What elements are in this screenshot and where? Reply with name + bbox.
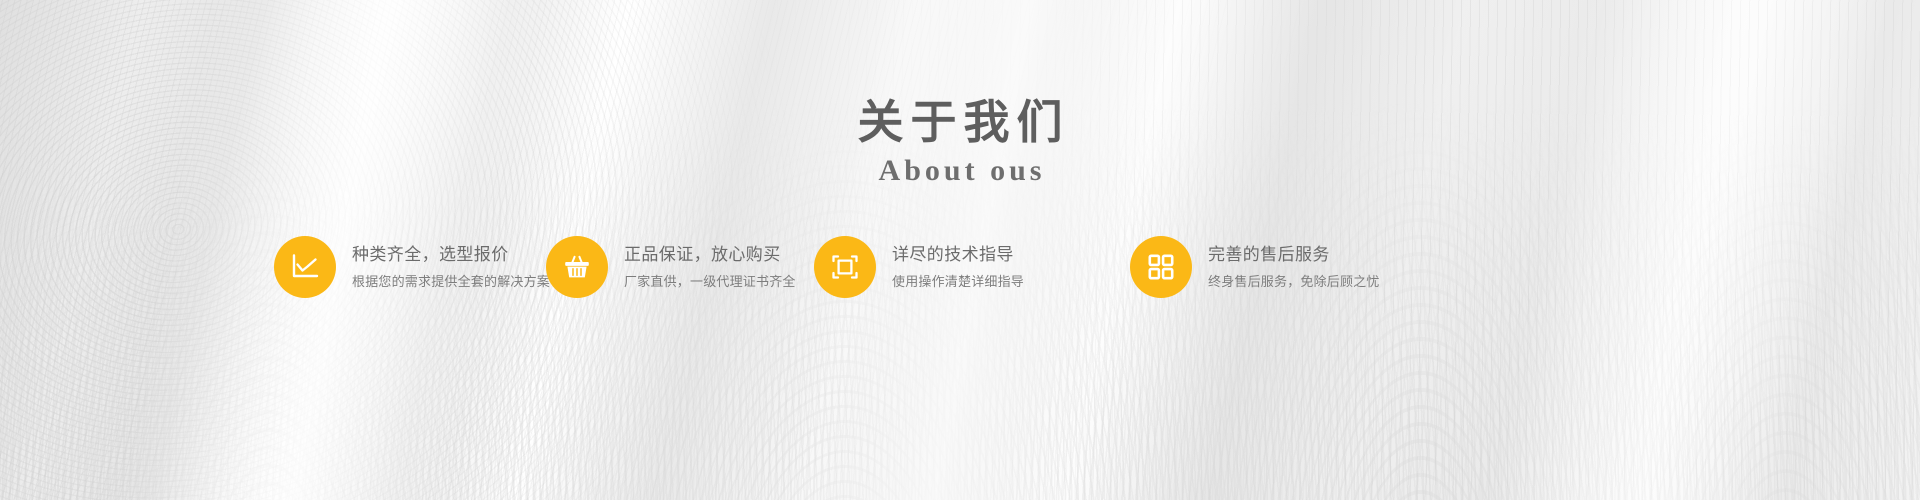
about-us-banner: 关于我们 About ous 种类齐全，选型报价 根据您的需求提供全套的解决方案: [0, 0, 1920, 500]
section-heading: 关于我们 About ous: [0, 98, 1920, 189]
feature-text: 种类齐全，选型报价 根据您的需求提供全套的解决方案: [352, 243, 550, 291]
feature-subtitle: 根据您的需求提供全套的解决方案: [352, 273, 550, 291]
feature-subtitle: 厂家直供，一级代理证书齐全: [624, 273, 796, 291]
feature-text: 正品保证，放心购买 厂家直供，一级代理证书齐全: [624, 243, 796, 291]
grid-squares-icon: [1130, 236, 1192, 298]
feature-subtitle: 终身售后服务，免除后顾之忧: [1208, 273, 1380, 291]
feature-item-selection-quote[interactable]: 种类齐全，选型报价 根据您的需求提供全套的解决方案: [274, 236, 546, 298]
line-chart-icon: [274, 236, 336, 298]
shopping-basket-icon: [546, 236, 608, 298]
page-subtitle: About ous: [0, 152, 1920, 190]
feature-text: 详尽的技术指导 使用操作清楚详细指导: [892, 243, 1024, 291]
scan-frame-icon: [814, 236, 876, 298]
feature-item-authentic-guarantee[interactable]: 正品保证，放心购买 厂家直供，一级代理证书齐全: [546, 236, 814, 298]
banner-content: 关于我们 About ous 种类齐全，选型报价 根据您的需求提供全套的解决方案: [0, 0, 1920, 500]
feature-title: 完善的售后服务: [1208, 244, 1380, 267]
page-title: 关于我们: [0, 98, 1920, 148]
feature-text: 完善的售后服务 终身售后服务，免除后顾之忧: [1208, 243, 1380, 291]
feature-list: 种类齐全，选型报价 根据您的需求提供全套的解决方案 正品保证，放心购买 厂家: [274, 236, 1654, 298]
feature-subtitle: 使用操作清楚详细指导: [892, 273, 1024, 291]
feature-title: 详尽的技术指导: [892, 244, 1024, 267]
feature-item-technical-guidance[interactable]: 详尽的技术指导 使用操作清楚详细指导: [814, 236, 1130, 298]
feature-title: 正品保证，放心购买: [624, 244, 796, 267]
feature-item-after-sales-service[interactable]: 完善的售后服务 终身售后服务，免除后顾之忧: [1130, 236, 1380, 298]
feature-title: 种类齐全，选型报价: [352, 244, 550, 267]
